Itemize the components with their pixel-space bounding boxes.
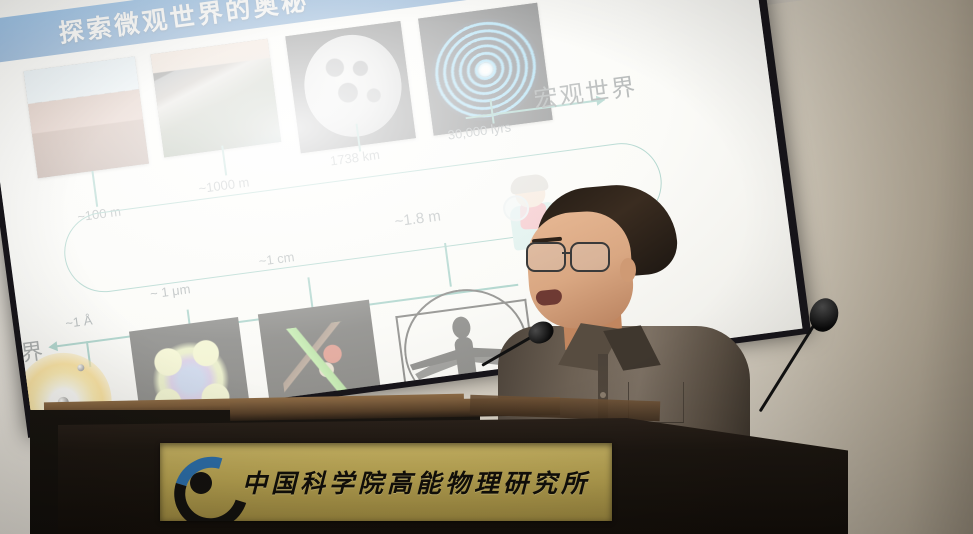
speaker-ear	[620, 258, 636, 282]
building-photo	[24, 56, 149, 178]
microphone-left	[482, 300, 552, 410]
podium-plaque: 中国科学院高能物理研究所	[160, 443, 612, 521]
microphone-right	[756, 282, 846, 422]
tick-1p8m	[444, 243, 451, 287]
label-1738km: 1738 km	[329, 147, 380, 168]
micro-axis-arrow	[48, 341, 58, 352]
shirt-button-1	[600, 392, 606, 398]
plaque-institution-name: 中国科学院高能物理研究所	[242, 464, 590, 500]
ihep-swirl-logo-icon	[172, 455, 230, 509]
label-1angstrom: ~1 Å	[64, 312, 93, 330]
tick-100m	[91, 171, 97, 207]
eyeglasses-icon	[526, 242, 612, 270]
moon-photo	[285, 21, 416, 153]
mountain-photo	[151, 39, 282, 158]
screenshot-root: 探索微观世界的奥秘 ~100 m ~1000 m 1738 km 30,000 …	[0, 0, 973, 534]
